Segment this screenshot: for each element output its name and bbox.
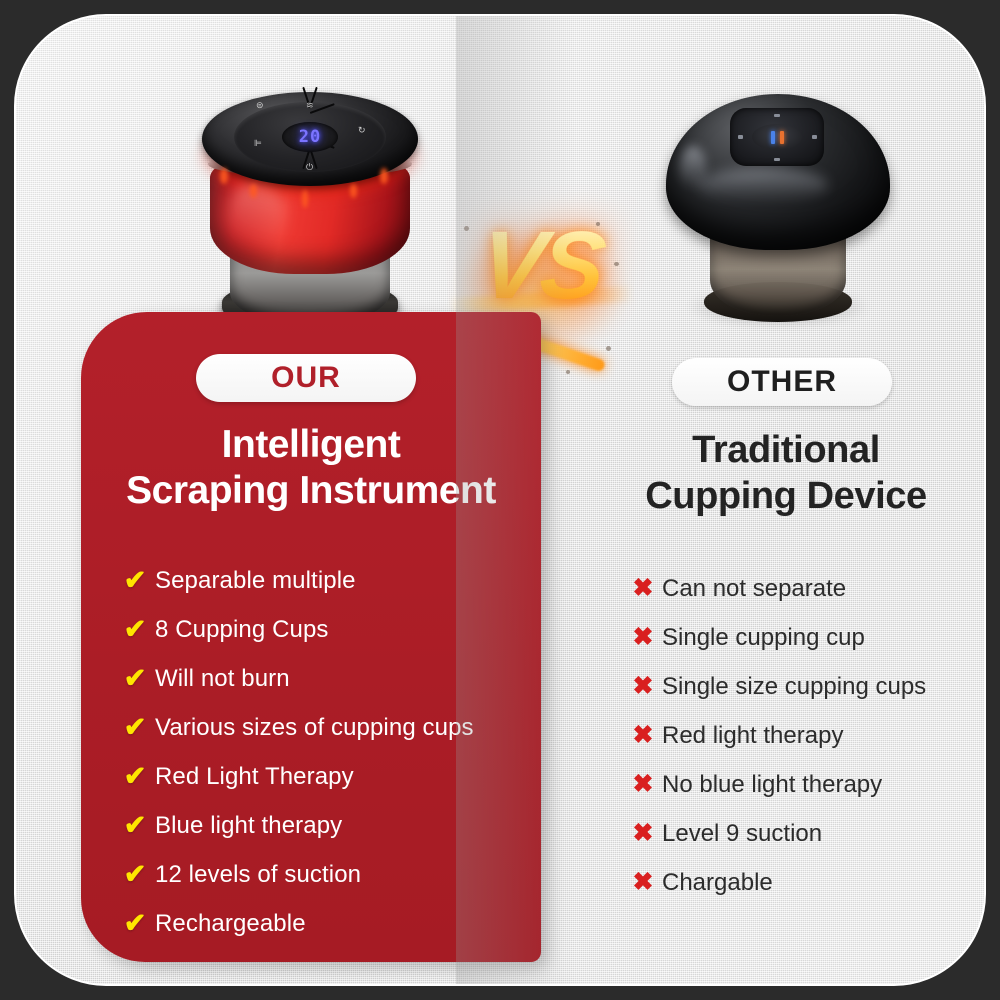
list-item: ✖ Can not separate xyxy=(624,564,986,613)
list-item: ✔ Various sizes of cupping cups xyxy=(115,703,545,752)
product-image-our: 20 ≋ ↻ ⏻ ⊜ ⊫ xyxy=(184,52,434,337)
feature-label: Will not burn xyxy=(155,665,290,693)
list-item: ✔ Separable multiple xyxy=(115,556,545,605)
light-flare xyxy=(302,190,308,208)
other-title: Traditional Cupping Device xyxy=(576,428,986,519)
led-indicator-display xyxy=(752,124,802,150)
feature-label: Single cupping cup xyxy=(662,624,865,652)
list-item: ✔ Blue light therapy xyxy=(115,801,545,850)
light-flare xyxy=(350,184,357,198)
our-title: Intelligent Scraping Instrument xyxy=(81,422,541,514)
cross-icon: ✖ xyxy=(624,625,662,650)
down-button-icon[interactable] xyxy=(774,158,780,161)
feature-label: Red light therapy xyxy=(662,722,843,750)
list-item: ✖ Red light therapy xyxy=(624,711,986,760)
check-icon: ✔ xyxy=(115,567,155,594)
other-title-line1: Traditional xyxy=(576,428,986,474)
cross-icon: ✖ xyxy=(624,576,662,601)
blue-indicator xyxy=(771,131,775,144)
feature-label: Rechargeable xyxy=(155,910,306,938)
check-icon: ✔ xyxy=(115,861,155,888)
body-highlight xyxy=(680,146,706,190)
check-icon: ✔ xyxy=(115,763,155,790)
list-item: ✖ Single cupping cup xyxy=(624,613,986,662)
list-item: ✖ Single size cupping cups xyxy=(624,662,986,711)
feature-label: Separable multiple xyxy=(155,567,356,595)
other-title-line2: Cupping Device xyxy=(576,474,986,520)
spark-speck xyxy=(596,222,600,226)
list-item: ✔ Rechargeable xyxy=(115,899,545,948)
check-icon: ✔ xyxy=(115,910,155,937)
check-icon: ✔ xyxy=(115,616,155,643)
body-highlight xyxy=(698,168,828,202)
spark-speck xyxy=(614,262,619,266)
cycle-icon[interactable]: ↻ xyxy=(358,126,366,135)
content-panel: 20 ≋ ↻ ⏻ ⊜ ⊫ xyxy=(14,14,986,986)
cross-icon: ✖ xyxy=(624,870,662,895)
other-feature-list: ✖ Can not separate ✖ Single cupping cup … xyxy=(624,564,986,907)
feature-label: Single size cupping cups xyxy=(662,673,926,701)
feature-label: Various sizes of cupping cups xyxy=(155,714,474,742)
list-item: ✖ Chargable xyxy=(624,858,986,907)
list-item: ✔ 8 Cupping Cups xyxy=(115,605,545,654)
cross-icon: ✖ xyxy=(624,723,662,748)
list-item: ✔ 12 levels of suction xyxy=(115,850,545,899)
left-button-icon[interactable] xyxy=(738,135,743,139)
our-title-line2: Scraping Instrument xyxy=(81,468,541,514)
our-feature-list: ✔ Separable multiple ✔ 8 Cupping Cups ✔ … xyxy=(115,556,545,948)
feature-label: Chargable xyxy=(662,869,773,897)
light-flare xyxy=(220,168,228,184)
list-item: ✖ Level 9 suction xyxy=(624,809,986,858)
up-button-icon[interactable] xyxy=(774,114,780,117)
feature-label: 8 Cupping Cups xyxy=(155,616,329,644)
power-icon[interactable]: ⏻ xyxy=(306,163,313,172)
check-icon: ✔ xyxy=(115,665,155,692)
spark-speck xyxy=(566,370,570,374)
display-value: 20 xyxy=(299,127,321,147)
list-item: ✔ Red Light Therapy xyxy=(115,752,545,801)
feature-label: 12 levels of suction xyxy=(155,861,361,889)
scrape-head-icon[interactable]: ⊫ xyxy=(254,139,262,148)
orange-indicator xyxy=(780,131,784,144)
spark-speck xyxy=(606,346,611,351)
feature-label: Blue light therapy xyxy=(155,812,342,840)
other-badge: OTHER xyxy=(672,358,892,406)
cross-icon: ✖ xyxy=(624,821,662,846)
product-image-other xyxy=(652,50,902,330)
suction-cup-icon[interactable]: ⊜ xyxy=(256,101,264,110)
list-item: ✖ No blue light therapy xyxy=(624,760,986,809)
versus-label: VS xyxy=(441,218,641,314)
right-button-icon[interactable] xyxy=(812,135,817,139)
our-product-card: OUR Intelligent Scraping Instrument ✔ Se… xyxy=(81,312,541,962)
list-item: ✔ Will not burn xyxy=(115,654,545,703)
feature-label: Red Light Therapy xyxy=(155,763,354,791)
our-title-line1: Intelligent xyxy=(81,422,541,468)
cross-icon: ✖ xyxy=(624,772,662,797)
check-icon: ✔ xyxy=(115,714,155,741)
infographic-frame: 20 ≋ ↻ ⏻ ⊜ ⊫ xyxy=(0,0,1000,1000)
light-flare xyxy=(250,184,257,198)
feature-label: Level 9 suction xyxy=(662,820,822,848)
light-flare xyxy=(380,168,388,184)
our-badge-label: OUR xyxy=(271,361,341,395)
heat-wave-icon[interactable]: ≋ xyxy=(306,101,314,110)
other-badge-label: OTHER xyxy=(727,365,837,399)
feature-label: No blue light therapy xyxy=(662,771,882,799)
led-display: 20 xyxy=(282,122,338,152)
feature-label: Can not separate xyxy=(662,575,846,603)
spark-speck xyxy=(464,226,469,231)
cross-icon: ✖ xyxy=(624,674,662,699)
our-badge: OUR xyxy=(196,354,416,402)
check-icon: ✔ xyxy=(115,812,155,839)
